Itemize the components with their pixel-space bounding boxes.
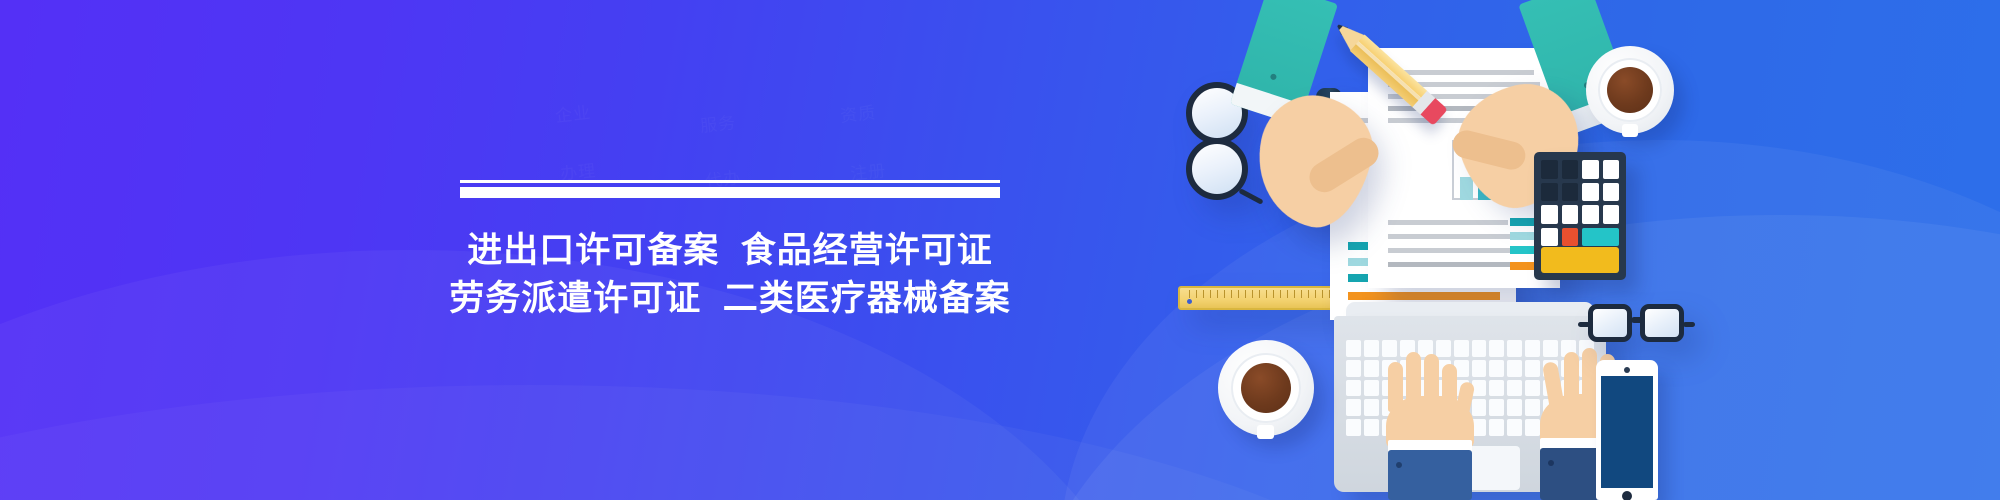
cup-handle [1622, 124, 1638, 137]
calculator-key [1603, 205, 1620, 224]
phone-camera [1624, 367, 1630, 373]
calculator-key [1582, 205, 1599, 224]
promo-banner: 企业 服务 资质 办理 代办 注册 进出口许可备案 食品经营许可证 劳务派遣许可… [0, 0, 2000, 500]
smartphone-icon [1596, 360, 1658, 500]
coffee-cup-top [1586, 46, 1674, 134]
doc-accent-bar [1348, 292, 1500, 300]
calculator-icon [1534, 152, 1626, 280]
desk-illustration [0, 0, 2000, 500]
calculator-key [1541, 183, 1558, 202]
coffee-cup-bottom [1218, 340, 1314, 436]
calculator-key [1582, 183, 1599, 202]
calculator-key [1562, 205, 1579, 224]
calculator-key [1582, 160, 1599, 179]
doc-text-line [1388, 248, 1526, 253]
chart-bar [1460, 177, 1473, 200]
calculator-key [1541, 160, 1558, 179]
calculator-key [1603, 183, 1620, 202]
glasses-arm [1238, 188, 1263, 205]
calculator-screen [1541, 247, 1619, 273]
sleeve-button [1548, 460, 1554, 466]
glasses-lens [1588, 304, 1632, 342]
doc-text-line [1388, 70, 1534, 75]
calculator-keypad [1541, 160, 1619, 246]
coffee-liquid [1241, 363, 1291, 413]
doc-text-line [1388, 220, 1508, 225]
ruler-hole [1187, 299, 1192, 304]
phone-home-button [1622, 491, 1632, 500]
coffee-liquid [1607, 67, 1653, 113]
calculator-key [1603, 160, 1620, 179]
sleeve-button [1270, 73, 1278, 81]
calculator-key-clear [1562, 228, 1579, 247]
calculator-key [1562, 160, 1579, 179]
phone-screen [1601, 376, 1653, 488]
calculator-key [1541, 228, 1558, 247]
suit-sleeve-left [1388, 450, 1472, 500]
calculator-key-equals [1582, 228, 1619, 247]
glasses-arm [1683, 322, 1695, 327]
calculator-key [1541, 205, 1558, 224]
sleeve-button [1396, 462, 1402, 468]
glasses-lens [1640, 304, 1684, 342]
cup-handle [1257, 425, 1274, 439]
calculator-key [1562, 183, 1579, 202]
rect-glasses-icon [1588, 300, 1696, 346]
